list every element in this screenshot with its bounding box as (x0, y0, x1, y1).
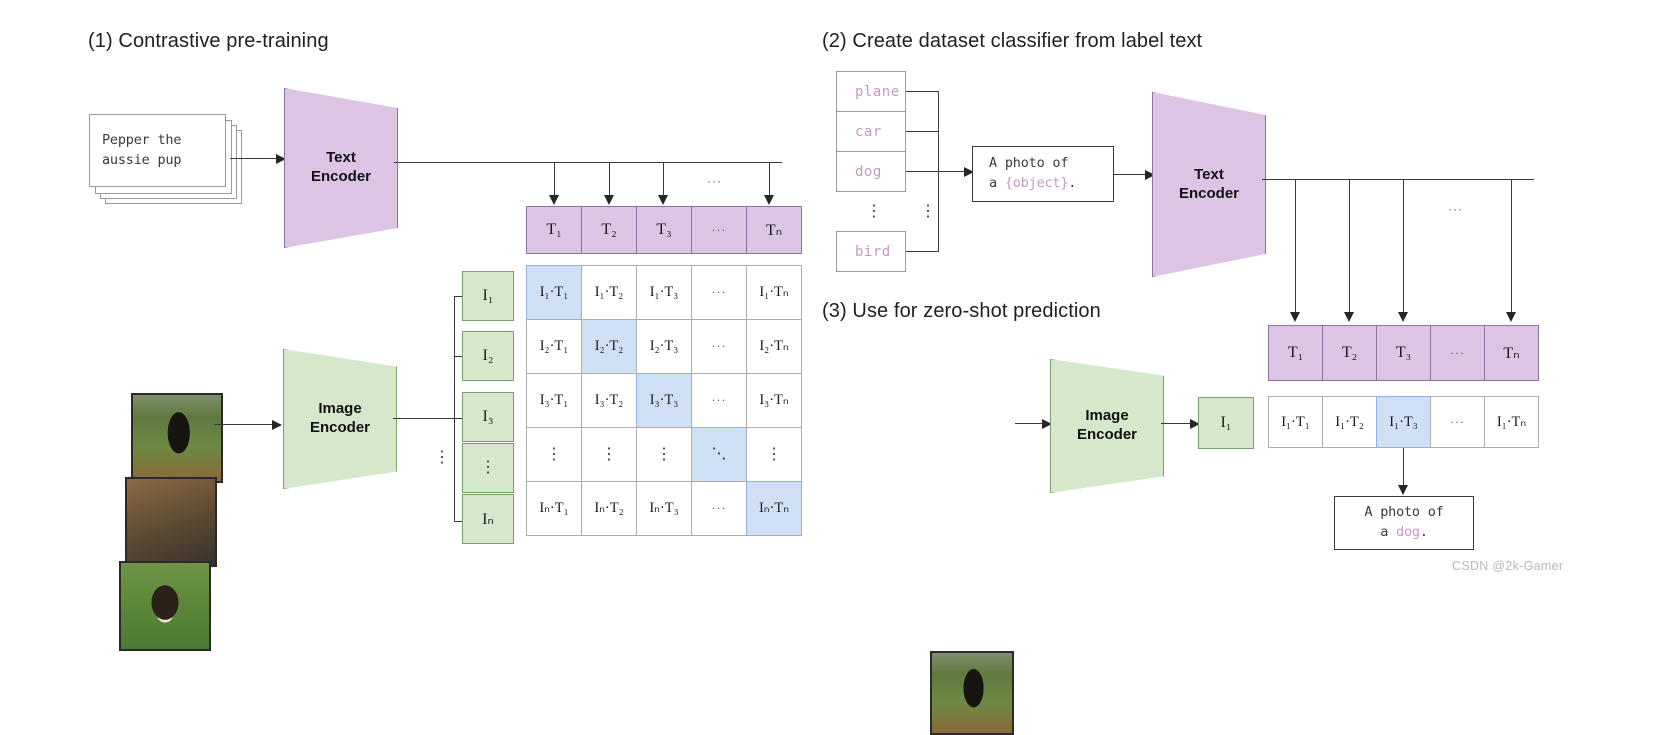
i-header-label: I₂ (483, 347, 494, 365)
label-box-car[interactable]: car (836, 111, 906, 152)
matrix-cell[interactable]: I₁·T₂ (581, 265, 637, 320)
t1-drop-line (554, 162, 555, 196)
i1-cell-label: I₁ (1221, 414, 1232, 432)
image-encoder-1-label-line1: Image (310, 400, 370, 419)
matrix-cell-label: I₃·T₂ (595, 392, 624, 409)
matrix-cell-label: Iₙ·T₁ (539, 500, 568, 517)
image-encoder-2-label-line2: Encoder (1077, 426, 1137, 445)
i-header-cell[interactable]: ⋮ (462, 443, 514, 493)
t-header-label: T₃ (656, 221, 671, 239)
prompt-line-2: a {object}. (989, 174, 1113, 194)
image-encoder-2[interactable]: Image Encoder (1050, 359, 1164, 493)
matrix-cell[interactable]: ⋮ (636, 427, 692, 482)
matrix-cell[interactable]: ⋮ (581, 427, 637, 482)
t-header-label: T₁ (1288, 344, 1303, 362)
t-header-cell-panel2[interactable]: T₂ (1322, 325, 1377, 381)
image-encoder-1-trunk (454, 296, 455, 522)
matrix-cell-label: I₂·T₁ (540, 338, 569, 355)
bracket-stub-dog (906, 171, 939, 172)
t-header-cell-panel2[interactable]: ··· (1430, 325, 1485, 381)
arrowhead-t2 (604, 195, 614, 205)
matrix-cell-label: I₃·Tₙ (759, 392, 788, 409)
result-prefix: a (1380, 524, 1396, 540)
matrix-cell-label: I₃·T₁ (540, 392, 569, 409)
t-header-cell[interactable]: Tₙ (746, 206, 802, 254)
branch-ellipsis: ⋮ (434, 452, 450, 463)
matrix-cell-label: Iₙ·T₃ (649, 500, 678, 517)
matrix-cell-label: I₃·T₃ (650, 392, 679, 409)
text-encoder-2-output-bus (1262, 179, 1534, 180)
tn-drop-line (769, 162, 770, 196)
label-box-plane[interactable]: plane (836, 71, 906, 112)
arrow-score-to-result (1403, 448, 1404, 487)
matrix-cell[interactable]: I₂·Tₙ (746, 319, 802, 374)
text-encoder-2-label-line1: Text (1179, 166, 1239, 185)
score-cell-label: I₁·T₂ (1335, 414, 1364, 431)
image-encoder-1[interactable]: Image Encoder (283, 349, 397, 489)
matrix-cell-label: I₂·T₂ (595, 338, 624, 355)
label-box-dog-text: dog (855, 164, 882, 180)
matrix-cell-label: ··· (712, 501, 727, 516)
text-encoder-1-label-line1: Text (311, 149, 371, 168)
matrix-cell[interactable]: I₃·T₂ (581, 373, 637, 428)
matrix-cell[interactable]: ⋱ (691, 427, 747, 482)
score-cell[interactable]: I₁·Tₙ (1484, 396, 1539, 448)
result-suffix: . (1420, 524, 1428, 540)
matrix-cell[interactable]: ··· (691, 481, 747, 536)
i-header-cell[interactable]: I₃ (462, 392, 514, 442)
t2-drop-line-panel2 (1349, 179, 1350, 314)
text-encoder-1-output-bus (394, 162, 782, 163)
watermark: CSDN @2k-Gamer (1452, 559, 1563, 573)
t2-drop-line (609, 162, 610, 196)
arrow-caption-to-text-encoder (230, 158, 278, 159)
i-header-label: ⋮ (480, 462, 496, 473)
image-stack-back-1 (125, 477, 217, 567)
arrowhead-t1 (549, 195, 559, 205)
matrix-cell-label: ··· (712, 285, 727, 300)
i-header-cell[interactable]: I₂ (462, 331, 514, 381)
label-box-car-text: car (855, 124, 882, 140)
matrix-cell[interactable]: I₂·T₂ (581, 319, 637, 374)
t3-drop-line (663, 162, 664, 196)
label-box-plane-text: plane (855, 84, 900, 100)
label-box-bird[interactable]: bird (836, 231, 906, 272)
matrix-cell[interactable]: ⋮ (746, 427, 802, 482)
t-header-cell[interactable]: T₃ (636, 206, 692, 254)
text-encoder-2-label-line2: Encoder (1179, 185, 1239, 204)
t3-drop-line-panel2 (1403, 179, 1404, 314)
matrix-cell-label: I₂·T₃ (650, 338, 679, 355)
matrix-cell-label: I₂·Tₙ (759, 338, 788, 355)
score-cell[interactable]: I₁·T₃ (1376, 396, 1431, 448)
prompt-template-box[interactable]: A photo of a {object}. (972, 146, 1114, 202)
matrix-cell-label: ⋮ (656, 449, 672, 460)
i-header-cell[interactable]: I₁ (462, 271, 514, 321)
matrix-cell-label: Iₙ·Tₙ (759, 500, 789, 517)
matrix-cell[interactable]: Iₙ·T₂ (581, 481, 637, 536)
matrix-cell[interactable]: I₂·T₁ (526, 319, 582, 374)
t-header-cell[interactable]: T₂ (581, 206, 637, 254)
result-line-1: A photo of (1364, 503, 1443, 523)
score-cell-label: I₁·T₁ (1281, 414, 1310, 431)
matrix-cell[interactable]: Iₙ·Tₙ (746, 481, 802, 536)
image-stack-back-2 (131, 393, 223, 483)
label-box-bird-text: bird (855, 244, 891, 260)
label-box-dog[interactable]: dog (836, 151, 906, 192)
i-header-label: I₁ (483, 287, 494, 305)
label-list-ellipsis: ⋮ (866, 206, 882, 217)
caption-line-2: aussie pup (102, 151, 225, 171)
prompt-object-placeholder: {object} (1005, 175, 1068, 191)
arrowhead-t2-panel2 (1344, 312, 1354, 322)
result-object: dog (1396, 524, 1420, 540)
text-encoder-2[interactable]: Text Encoder (1152, 92, 1266, 277)
score-cell-label: ··· (1450, 415, 1465, 430)
arrowhead-tn (764, 195, 774, 205)
matrix-cell[interactable]: I₃·Tₙ (746, 373, 802, 428)
matrix-cell[interactable]: I₃·T₃ (636, 373, 692, 428)
matrix-cell[interactable]: ··· (691, 319, 747, 374)
i-header-label: Iₙ (482, 509, 494, 529)
arrowhead-t3-panel2 (1398, 312, 1408, 322)
arrowhead-t3 (658, 195, 668, 205)
t-header-label: T₂ (1342, 344, 1357, 362)
t-header-label: T₁ (546, 221, 561, 239)
matrix-cell[interactable]: I₁·Tₙ (746, 265, 802, 320)
bracket-stub-car (906, 131, 939, 132)
t-header-cell-panel2[interactable]: T₁ (1268, 325, 1323, 381)
score-cell-label: I₁·Tₙ (1497, 414, 1526, 431)
matrix-cell-label: I₁·T₃ (650, 284, 679, 301)
caption-card-front: Pepper the aussie pup (89, 114, 226, 187)
matrix-cell-label: ⋮ (601, 449, 617, 460)
matrix-cell[interactable]: I₁·T₁ (526, 265, 582, 320)
matrix-cell[interactable]: ··· (691, 265, 747, 320)
matrix-cell-label: ⋮ (766, 449, 782, 460)
t-header-label: Tₙ (766, 220, 782, 240)
result-line-2: a dog. (1380, 523, 1428, 543)
prompt-prefix: a (989, 175, 1005, 191)
matrix-cell-label: I₁·T₂ (595, 284, 624, 301)
matrix-cell-label: I₁·T₁ (540, 284, 569, 301)
matrix-cell-label: ··· (712, 339, 727, 354)
i1-cell-panel3[interactable]: I₁ (1198, 397, 1254, 449)
i-header-cell[interactable]: Iₙ (462, 494, 514, 544)
image-encoder-2-label-line1: Image (1077, 407, 1137, 426)
arrowhead-tn-panel2 (1506, 312, 1516, 322)
t-header-label: Tₙ (1503, 343, 1519, 363)
matrix-cell[interactable]: ··· (691, 373, 747, 428)
bracket-stub-bird (906, 251, 939, 252)
score-cell-label: I₁·T₃ (1389, 414, 1418, 431)
text-encoder-1[interactable]: Text Encoder (284, 88, 398, 248)
matrix-cell-label: ⋱ (712, 446, 727, 463)
t-header-label: ··· (712, 223, 727, 238)
t1-drop-line-panel2 (1295, 179, 1296, 314)
score-cell[interactable]: I₁·T₁ (1268, 396, 1323, 448)
t-header-label: T₃ (1396, 344, 1411, 362)
matrix-cell-label: I₁·Tₙ (759, 284, 788, 301)
prompt-line-1: A photo of (989, 154, 1113, 174)
matrix-cell-label: Iₙ·T₂ (594, 500, 623, 517)
matrix-cell[interactable]: I₃·T₁ (526, 373, 582, 428)
t-header-cell-panel2[interactable]: Tₙ (1484, 325, 1539, 381)
panel1-title: (1) Contrastive pre-training (88, 30, 329, 53)
t-header-label: ··· (1450, 346, 1465, 361)
arrowhead-images-to-image-encoder (272, 420, 282, 430)
bracket-stub-plane (906, 91, 939, 92)
matrix-cell-label: ··· (712, 393, 727, 408)
arrowhead-t1-panel2 (1290, 312, 1300, 322)
prompt-suffix: . (1068, 175, 1076, 191)
t-header-label: T₂ (601, 221, 616, 239)
arrowhead-score-to-result (1398, 485, 1408, 495)
matrix-cell-label: ⋮ (546, 449, 562, 460)
panel3-title: (3) Use for zero-shot prediction (822, 300, 1101, 323)
text-encoder-1-label-line2: Encoder (311, 168, 371, 187)
prediction-result-box: A photo of a dog. (1334, 496, 1474, 550)
query-image (930, 651, 1014, 735)
panel2-title: (2) Create dataset classifier from label… (822, 30, 1202, 53)
ellipsis-above-tn-panel2: ··· (1448, 202, 1463, 216)
t-header-cell[interactable]: ··· (691, 206, 747, 254)
matrix-cell[interactable]: I₁·T₃ (636, 265, 692, 320)
image-encoder-1-output-bus (393, 418, 455, 419)
tn-drop-line-panel2 (1511, 179, 1512, 314)
matrix-cell[interactable]: ⋮ (526, 427, 582, 482)
t-header-cell-panel2[interactable]: T₃ (1376, 325, 1431, 381)
image-encoder-1-label-line2: Encoder (310, 419, 370, 438)
caption-line-1: Pepper the (102, 131, 225, 151)
bracket-ellipsis: ⋮ (920, 206, 936, 217)
matrix-cell[interactable]: Iₙ·T₁ (526, 481, 582, 536)
score-cell[interactable]: I₁·T₂ (1322, 396, 1377, 448)
image-stack-front-puppy (119, 561, 211, 651)
arrow-images-to-image-encoder (214, 424, 274, 425)
matrix-cell[interactable]: Iₙ·T₃ (636, 481, 692, 536)
score-cell[interactable]: ··· (1430, 396, 1485, 448)
t-header-cell[interactable]: T₁ (526, 206, 582, 254)
ellipsis-above-tn-panel1: ··· (707, 174, 722, 188)
i-header-label: I₃ (483, 408, 494, 426)
matrix-cell[interactable]: I₂·T₃ (636, 319, 692, 374)
